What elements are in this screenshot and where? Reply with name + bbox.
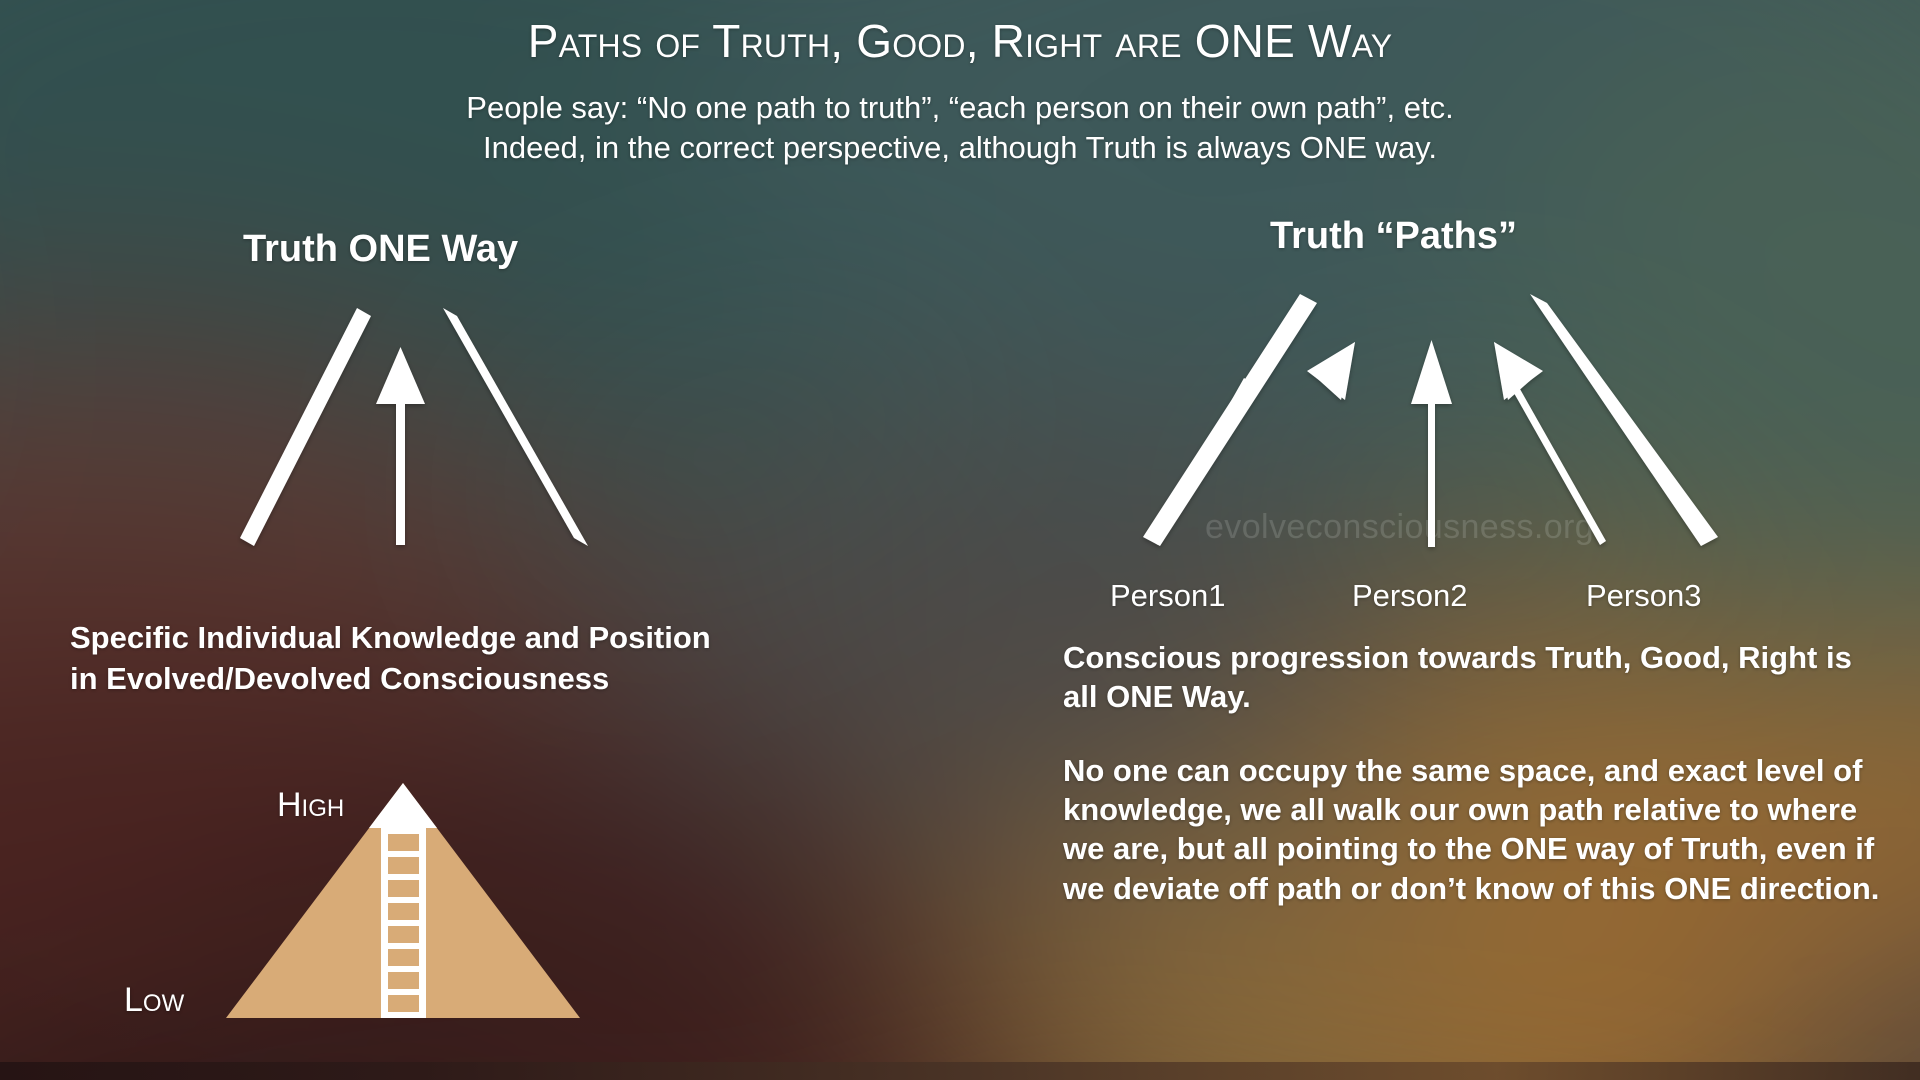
left-path-line-outer-left (240, 308, 371, 546)
left-caption-line-2: in Evolved/Devolved Consciousness (70, 658, 970, 699)
pyramid-label-low: Low (124, 981, 184, 1020)
pyramid-label-high: High (277, 786, 344, 825)
right-paragraph-2: No one can occupy the same space, and ex… (1063, 751, 1893, 908)
right-text-column: Conscious progression towards Truth, Goo… (1063, 638, 1893, 908)
person-label-3: Person3 (1586, 578, 1701, 614)
person-label-2: Person2 (1352, 578, 1467, 614)
left-caption-line-1: Specific Individual Knowledge and Positi… (70, 617, 970, 658)
right-path-line-outer-left (1143, 294, 1317, 546)
right-path-line-outer-right (1530, 294, 1718, 546)
pyramid-block: High Low (110, 770, 670, 1040)
left-caption: Specific Individual Knowledge and Positi… (70, 617, 970, 699)
left-center-arrow (376, 347, 425, 545)
right-paragraph-1: Conscious progression towards Truth, Goo… (1063, 638, 1893, 717)
person-label-1: Person1 (1110, 578, 1225, 614)
right-arrow-person2 (1411, 340, 1452, 547)
left-path-line-outer-right (443, 308, 588, 546)
